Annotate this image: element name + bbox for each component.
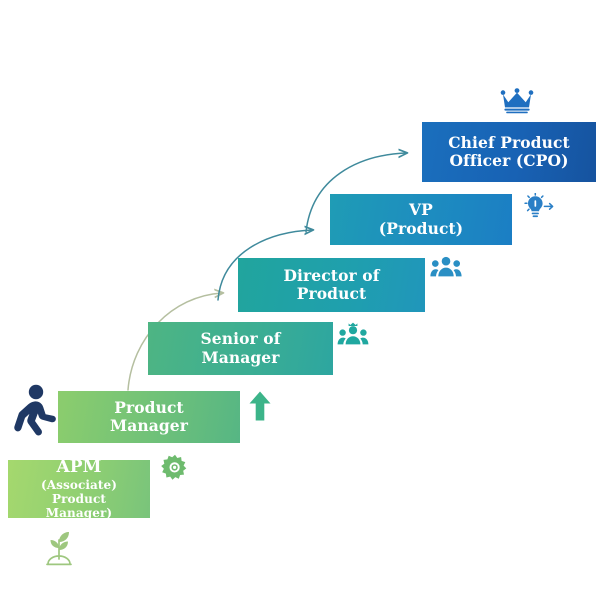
crown-icon xyxy=(500,88,534,114)
step-apm-title: APM xyxy=(56,457,101,477)
step-director-of-product[interactable]: Director of Product xyxy=(238,258,425,312)
step-apm[interactable]: APM (Associate) Product Manager) xyxy=(8,460,150,518)
step-apm-subtitle-3: Manager) xyxy=(46,506,112,520)
step-senior-line-2: Manager xyxy=(201,349,279,367)
step-apm-subtitle-2: Product xyxy=(52,492,106,506)
step-pm-line-2: Manager xyxy=(110,417,188,435)
walking-person-icon xyxy=(10,384,58,446)
step-senior-manager[interactable]: Senior of Manager xyxy=(148,322,333,375)
team-leader-icon xyxy=(337,320,369,348)
step-vp-product[interactable]: VP (Product) xyxy=(330,194,512,245)
step-vp-line-1: VP xyxy=(409,201,433,219)
step-apm-subtitle-1: (Associate) xyxy=(41,478,117,492)
career-ladder-diagram: APM (Associate) Product Manager) Product… xyxy=(0,0,600,600)
lightbulb-idea-icon xyxy=(521,193,555,223)
step-vp-line-2: (Product) xyxy=(379,220,463,238)
seedling-icon xyxy=(42,528,76,568)
step-chief-product-officer[interactable]: Chief Product Officer (CPO) xyxy=(422,122,596,182)
team-group-icon xyxy=(430,254,462,279)
step-product-manager[interactable]: Product Manager xyxy=(58,391,240,443)
step-cpo-line-2: Officer (CPO) xyxy=(449,152,568,170)
step-director-line-2: Product xyxy=(297,285,367,303)
arrow-up-icon xyxy=(248,390,272,422)
step-senior-line-1: Senior of xyxy=(200,330,280,348)
step-pm-line-1: Product xyxy=(114,399,184,417)
step-cpo-line-1: Chief Product xyxy=(448,134,570,152)
step-director-line-1: Director of xyxy=(284,267,380,285)
gear-icon xyxy=(160,454,190,484)
